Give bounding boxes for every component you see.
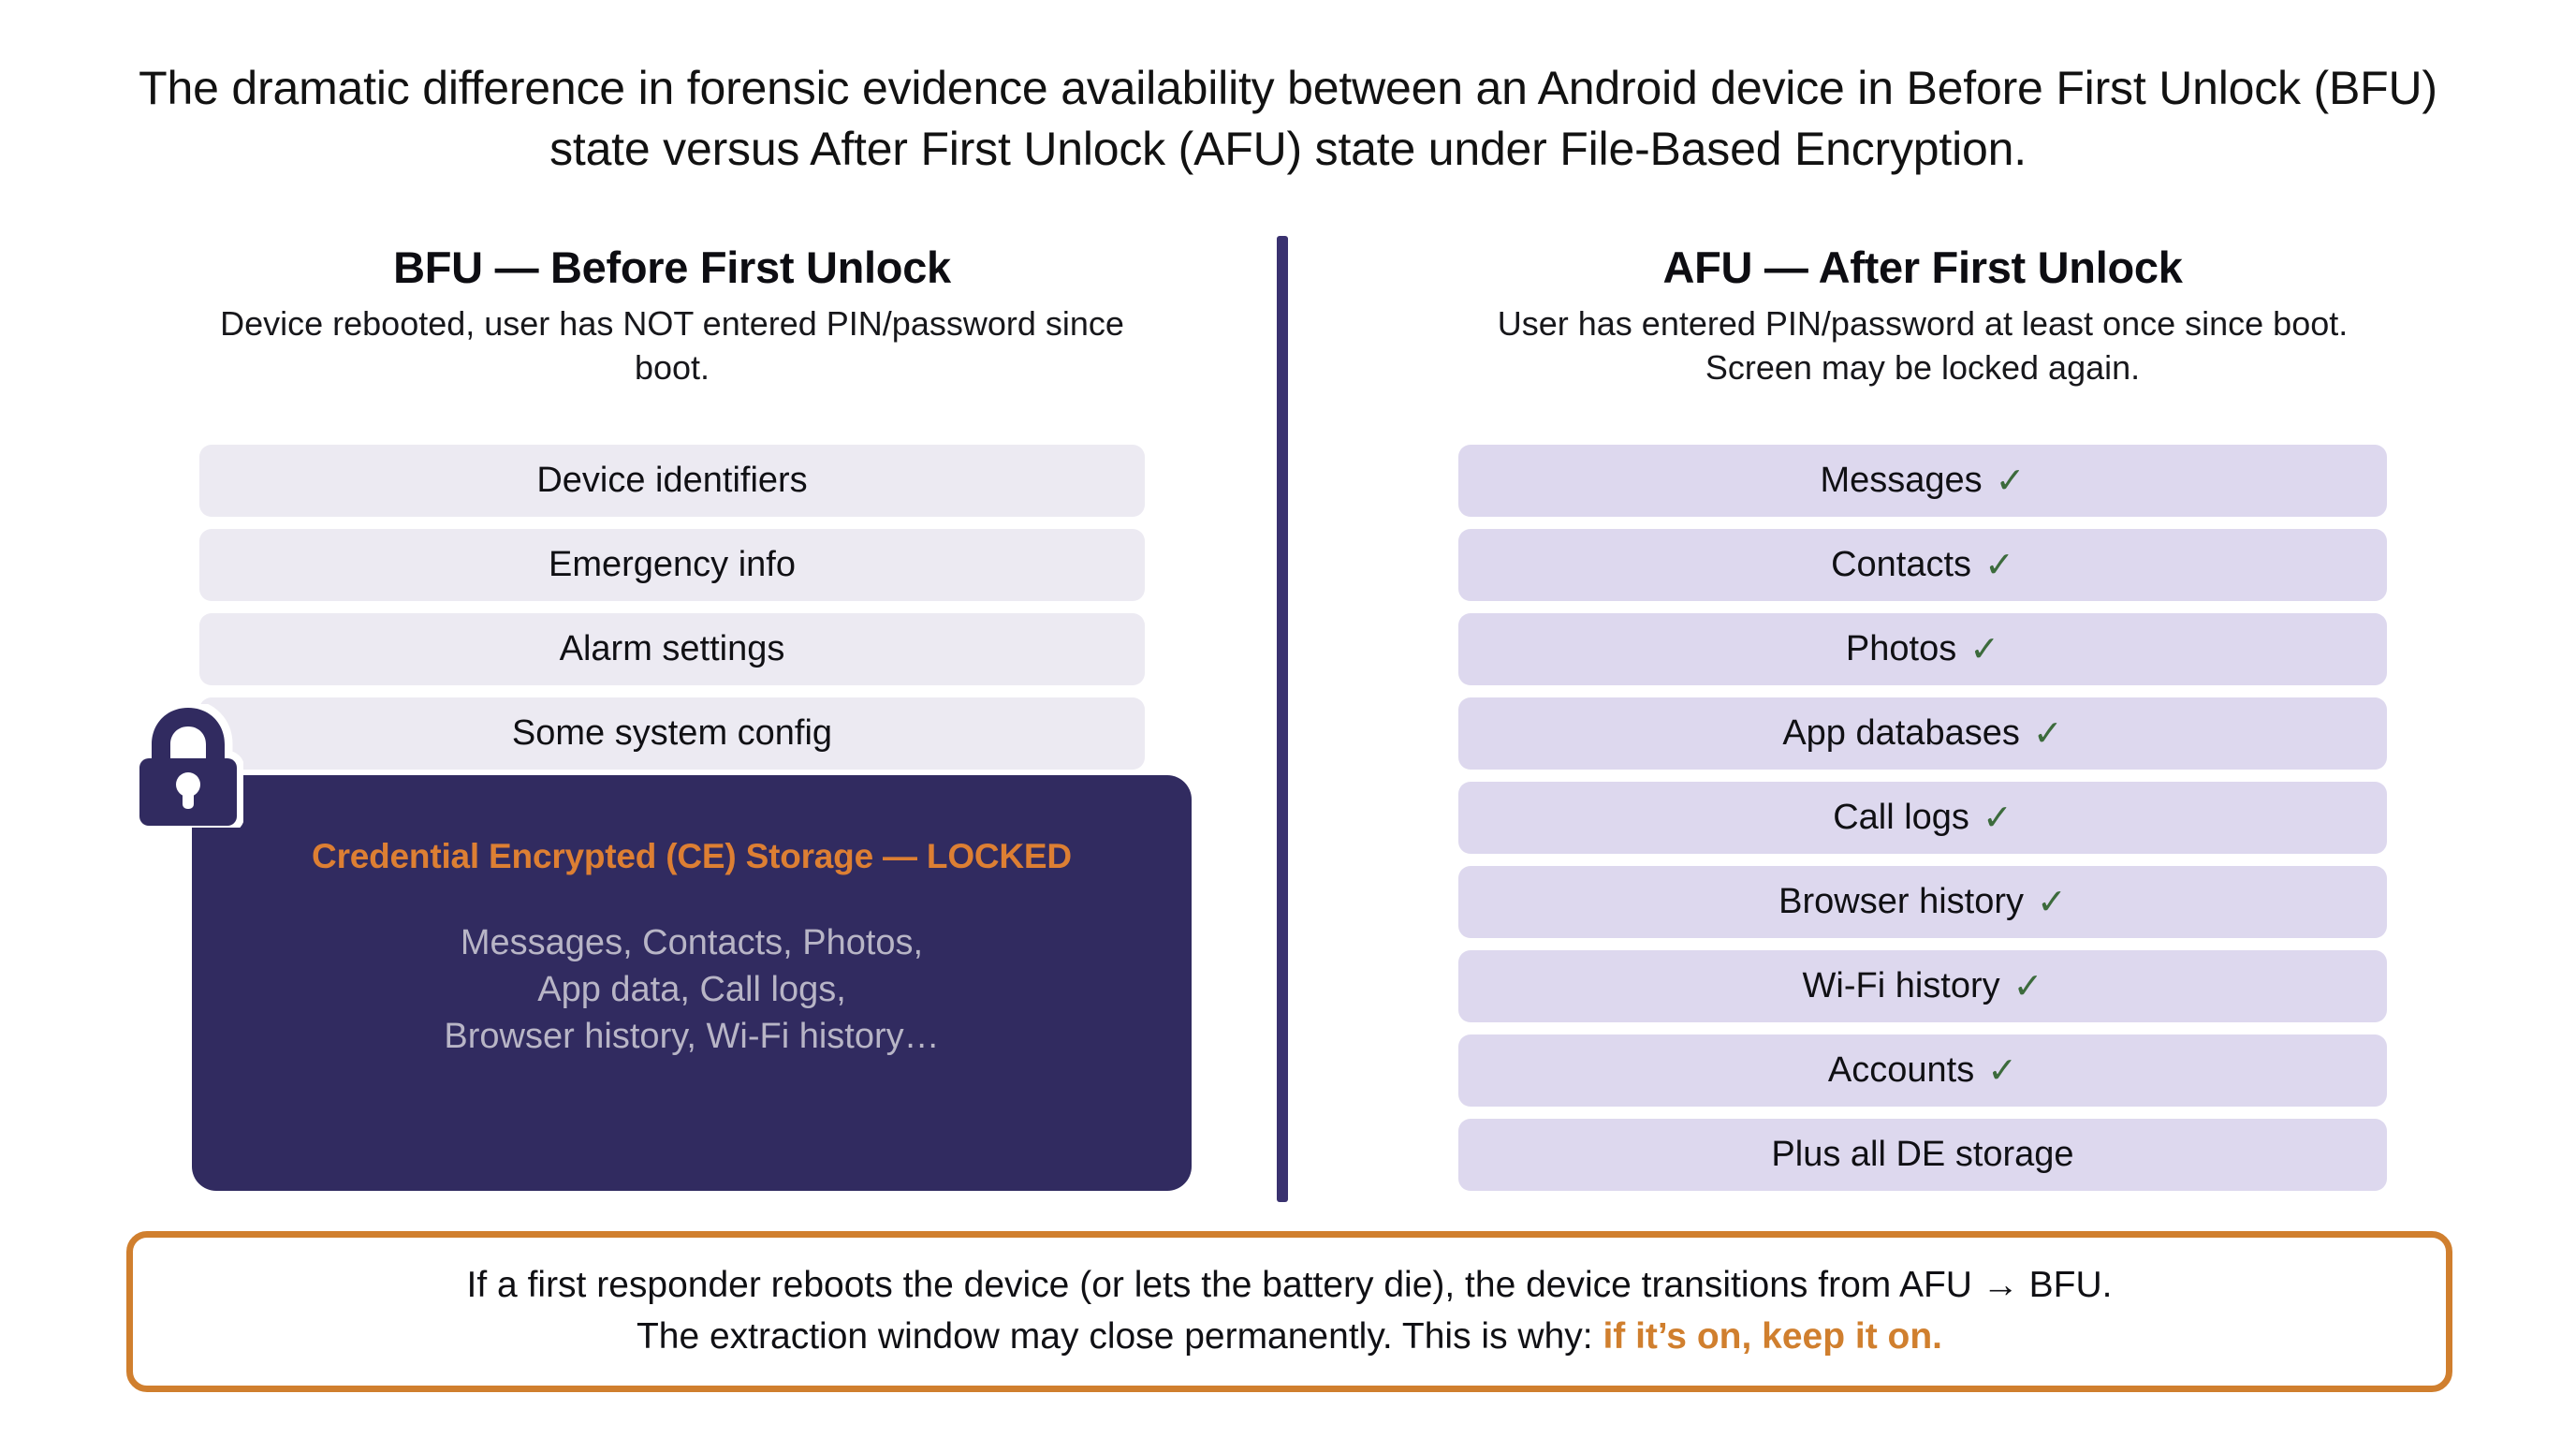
- list-item-label: Browser history: [1778, 882, 2024, 922]
- afu-heading: AFU — After First Unlock: [1458, 242, 2387, 293]
- warning-callout-box: If a first responder reboots the device …: [126, 1231, 2452, 1392]
- list-item: Some system config: [199, 697, 1145, 770]
- padlock-icon: [133, 704, 243, 828]
- afu-subtitle: User has entered PIN/password at least o…: [1458, 302, 2387, 390]
- list-item: Contacts✓: [1458, 529, 2387, 601]
- bfu-column-header: BFU — Before First Unlock Device reboote…: [199, 242, 1145, 390]
- page-title: The dramatic difference in forensic evid…: [131, 58, 2445, 180]
- list-item: App databases✓: [1458, 697, 2387, 770]
- list-item: Device identifiers: [199, 445, 1145, 517]
- ce-storage-locked-body-line: Messages, Contacts, Photos,: [192, 919, 1192, 966]
- bfu-available-list: Device identifiersEmergency infoAlarm se…: [199, 445, 1145, 770]
- check-icon: ✓: [1987, 1053, 2017, 1089]
- check-icon: ✓: [1996, 463, 2026, 499]
- list-item: Alarm settings: [199, 613, 1145, 685]
- list-item-label: App databases: [1782, 713, 2020, 754]
- column-divider: [1277, 236, 1288, 1202]
- check-icon: ✓: [1969, 632, 1999, 668]
- list-item-label: Alarm settings: [560, 629, 785, 669]
- list-item: Emergency info: [199, 529, 1145, 601]
- list-item-label: Some system config: [512, 713, 832, 754]
- warning-line-2-lead: The extraction window may close permanen…: [637, 1316, 1603, 1357]
- afu-available-list: Messages✓Contacts✓Photos✓App databases✓C…: [1458, 445, 2387, 1191]
- list-item: Wi-Fi history✓: [1458, 950, 2387, 1022]
- check-icon: ✓: [2037, 885, 2067, 920]
- list-item-label: Messages: [1820, 461, 1982, 501]
- bfu-heading: BFU — Before First Unlock: [199, 242, 1145, 293]
- list-item-label: Plus all DE storage: [1771, 1135, 2073, 1175]
- list-item-label: Wi-Fi history: [1803, 966, 2000, 1006]
- list-item: Accounts✓: [1458, 1034, 2387, 1107]
- list-item-label: Device identifiers: [536, 461, 807, 501]
- ce-storage-locked-body-line: App data, Call logs,: [192, 966, 1192, 1013]
- check-icon: ✓: [1984, 548, 2014, 583]
- ce-storage-locked-title: Credential Encrypted (CE) Storage — LOCK…: [192, 837, 1192, 876]
- list-item: Photos✓: [1458, 613, 2387, 685]
- check-icon: ✓: [1983, 800, 2012, 836]
- list-item-label: Call logs: [1833, 798, 1969, 838]
- list-item-label: Emergency info: [549, 545, 796, 585]
- list-item: Browser history✓: [1458, 866, 2387, 938]
- check-icon: ✓: [2013, 969, 2043, 1005]
- list-item: Messages✓: [1458, 445, 2387, 517]
- list-item-label: Photos: [1846, 629, 1956, 669]
- list-item-label: Contacts: [1831, 545, 1971, 585]
- ce-storage-locked-body-line: Browser history, Wi-Fi history…: [192, 1013, 1192, 1060]
- ce-storage-locked-body: Messages, Contacts, Photos,App data, Cal…: [192, 919, 1192, 1060]
- warning-line-1: If a first responder reboots the device …: [467, 1265, 2113, 1305]
- list-item: Plus all DE storage: [1458, 1119, 2387, 1191]
- afu-column-header: AFU — After First Unlock User has entere…: [1458, 242, 2387, 390]
- bfu-subtitle: Device rebooted, user has NOT entered PI…: [199, 302, 1145, 390]
- check-icon: ✓: [2033, 716, 2063, 752]
- list-item-label: Accounts: [1828, 1050, 1974, 1091]
- warning-emphasis: if it’s on, keep it on.: [1603, 1316, 1942, 1357]
- list-item: Call logs✓: [1458, 782, 2387, 854]
- ce-storage-locked-box: Credential Encrypted (CE) Storage — LOCK…: [192, 775, 1192, 1191]
- warning-callout-text: If a first responder reboots the device …: [467, 1260, 2113, 1362]
